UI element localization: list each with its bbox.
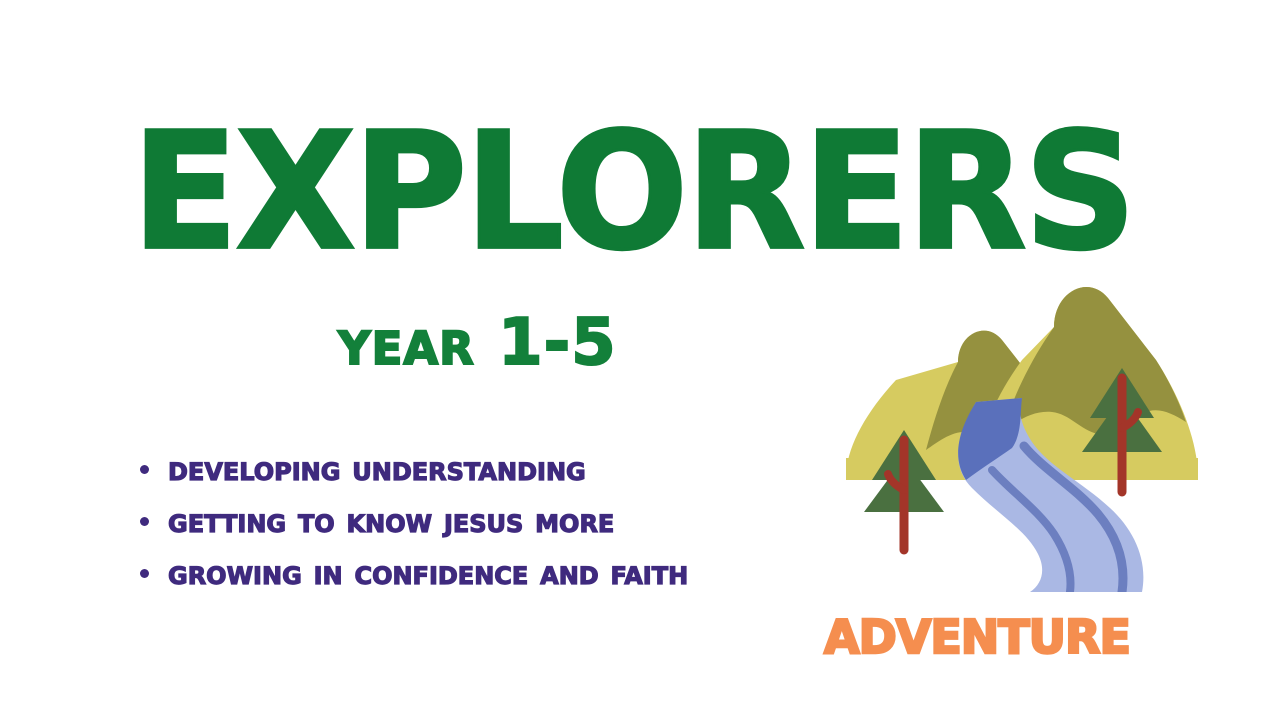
page-subtitle: YEAR 1-5: [338, 306, 617, 380]
bullet-dot-icon: [140, 465, 149, 474]
bullet-list: Developing understanding Getting to know…: [140, 443, 840, 599]
list-item-label: Growing in confidence and faith: [168, 555, 688, 591]
list-item-label: Getting to know Jesus more: [168, 503, 614, 539]
slide-canvas: EXPLORERS YEAR 1-5 Developing understand…: [0, 0, 1280, 720]
list-item: Growing in confidence and faith: [140, 547, 840, 599]
adventure-caption: Adventure: [824, 592, 1130, 670]
mountains-river-illustration: [826, 262, 1216, 592]
list-item: Developing understanding: [140, 443, 840, 495]
bullet-dot-icon: [140, 517, 149, 526]
list-item-label: Developing understanding: [168, 451, 586, 487]
list-item: Getting to know Jesus more: [140, 495, 840, 547]
page-title: EXPLORERS: [132, 118, 968, 266]
bullet-dot-icon: [140, 569, 149, 578]
